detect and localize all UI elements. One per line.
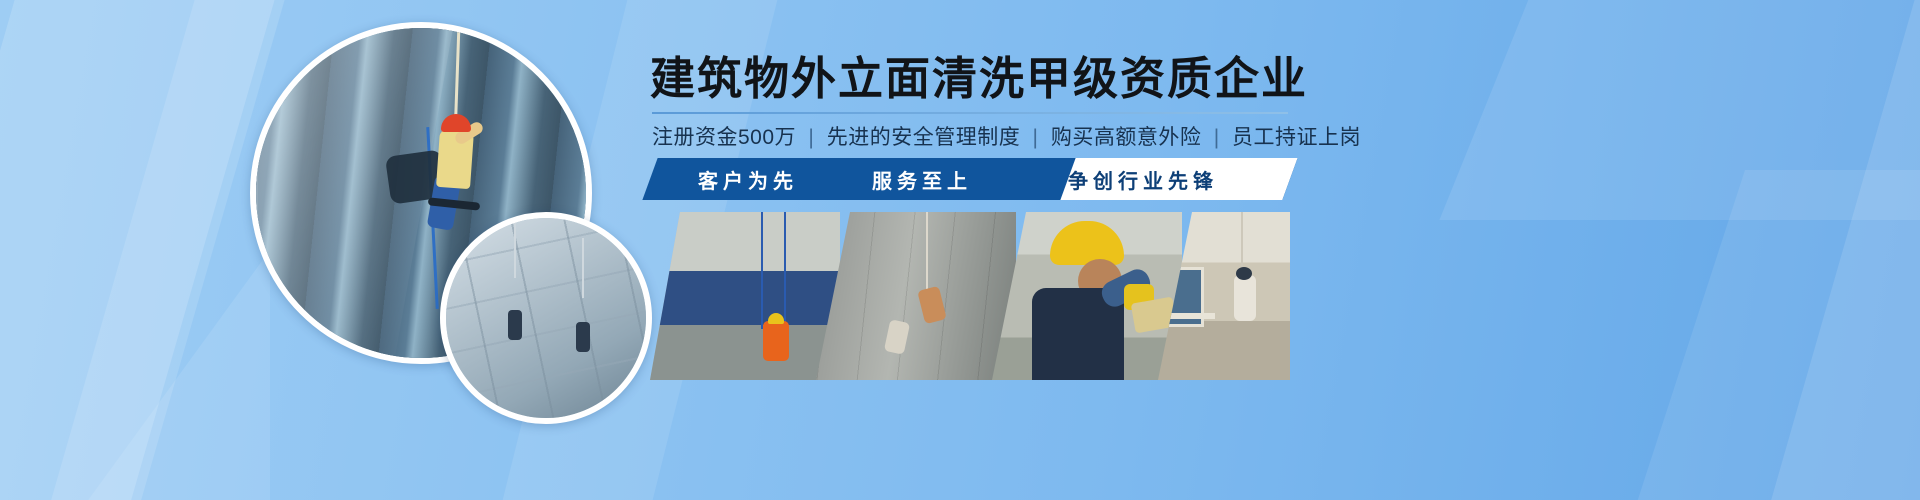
promo-banner: 建筑物外立面清洗甲级资质企业 注册资金500万 | 先进的安全管理制度 | 购买… <box>0 0 1920 500</box>
subtitle: 注册资金500万 | 先进的安全管理制度 | 购买高额意外险 | 员工持证上岗 <box>652 122 1292 154</box>
subtitle-part-1: 注册资金500万 <box>652 126 796 149</box>
subtitle-part-2: 先进的安全管理制度 <box>827 126 1021 149</box>
rope-left <box>514 218 516 278</box>
worker-lower <box>884 319 910 354</box>
worker-upper <box>917 286 947 324</box>
subtitle-separator-1: | <box>808 126 814 149</box>
background-diagonal-shape-6 <box>1615 170 1920 500</box>
panel-image-1 <box>650 212 840 380</box>
slogan-list: 客户为先 服务至上 争创行业先锋 <box>650 158 1290 200</box>
descending-worker <box>1234 275 1256 321</box>
photo-panel-concrete-wall-workers <box>816 212 1016 380</box>
rope-right <box>582 238 584 298</box>
panel-image-2 <box>816 212 1016 380</box>
background-diagonal-shape-7 <box>1760 0 1920 500</box>
subtitle-separator-2: | <box>1033 126 1039 149</box>
yellow-hard-hat <box>1050 221 1124 265</box>
photo-strip <box>650 212 1290 380</box>
yellow-helmet <box>768 313 784 324</box>
worker-left <box>508 310 522 340</box>
panel-image-3 <box>992 212 1182 380</box>
rope-3 <box>926 212 928 300</box>
photo-panel-plastering-worker <box>992 212 1182 380</box>
background-diagonal-shape-1 <box>0 0 286 500</box>
orange-safety-vest <box>763 321 789 361</box>
slogan-3: 争创行业先锋 <box>1068 165 1218 194</box>
subtitle-separator-3: | <box>1214 126 1220 149</box>
worker-head <box>1236 267 1252 280</box>
photo-grey-building-two-workers <box>440 212 652 424</box>
rope-1 <box>761 212 763 329</box>
photo-panel-worker-orange-vest <box>650 212 840 380</box>
slogan-2: 服务至上 <box>872 165 972 194</box>
background-diagonal-shape-3 <box>30 250 270 500</box>
building-facade-texture <box>446 218 646 418</box>
subtitle-part-4: 员工持证上岗 <box>1232 126 1361 149</box>
worker-right <box>576 322 590 352</box>
background-diagonal-shape-5 <box>1439 0 1920 220</box>
subtitle-part-3: 购买高额意外险 <box>1051 126 1202 149</box>
slogan-bar: 客户为先 服务至上 争创行业先锋 <box>650 158 1290 200</box>
page-title: 建筑物外立面清洗甲级资质企业 <box>650 50 1290 108</box>
slogan-1: 客户为先 <box>698 165 798 194</box>
title-underline <box>652 112 1288 114</box>
rope-2 <box>784 212 786 325</box>
